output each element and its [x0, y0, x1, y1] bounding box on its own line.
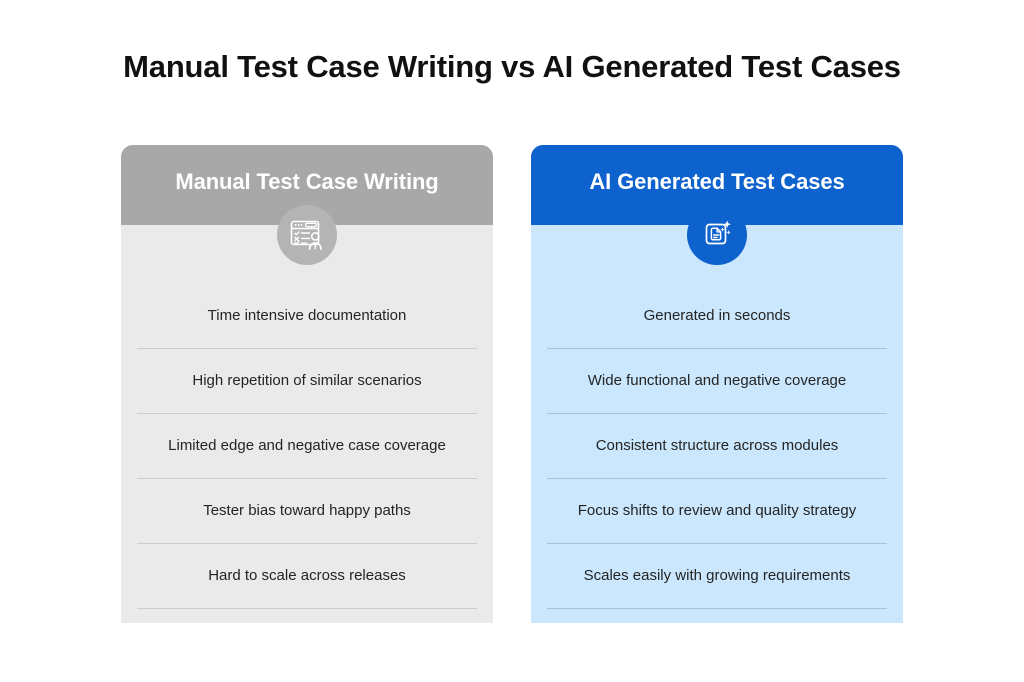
list-item: Scales easily with growing requirements: [547, 544, 887, 608]
feature-list-ai: Generated in seconds Wide functional and…: [547, 284, 887, 609]
card-header-title-manual: Manual Test Case Writing: [175, 169, 438, 195]
list-item-label: Time intensive documentation: [204, 306, 411, 326]
list-item-label: Scales easily with growing requirements: [580, 566, 855, 586]
list-item: Time intensive documentation: [137, 284, 477, 348]
feature-list-manual: Time intensive documentation High repeti…: [137, 284, 477, 609]
list-item: High repetition of similar scenarios: [137, 349, 477, 413]
list-item: Consistent structure across modules: [547, 414, 887, 478]
list-divider: [547, 608, 887, 609]
manual-checklist-person-icon: [277, 205, 337, 265]
list-item-label: Wide functional and negative coverage: [584, 371, 851, 391]
list-item: Wide functional and negative coverage: [547, 349, 887, 413]
ai-document-sparkle-icon: [687, 205, 747, 265]
list-item-label: Hard to scale across releases: [204, 566, 410, 586]
list-divider: [137, 608, 477, 609]
comparison-card-ai: AI Generated Test Cases Generated in sec…: [531, 145, 903, 623]
list-item-label: Consistent structure across modules: [592, 436, 843, 456]
list-item: Limited edge and negative case coverage: [137, 414, 477, 478]
list-item: Generated in seconds: [547, 284, 887, 348]
list-item-label: Tester bias toward happy paths: [199, 501, 415, 521]
list-item-label: Limited edge and negative case coverage: [164, 436, 450, 456]
list-item-label: Focus shifts to review and quality strat…: [574, 501, 860, 521]
list-item: Focus shifts to review and quality strat…: [547, 479, 887, 543]
list-item-label: High repetition of similar scenarios: [188, 371, 425, 391]
comparison-card-manual: Manual Test Case Writing Time in: [121, 145, 493, 623]
list-item: Hard to scale across releases: [137, 544, 477, 608]
list-item-label: Generated in seconds: [640, 306, 795, 326]
page-title: Manual Test Case Writing vs AI Generated…: [0, 47, 1024, 87]
comparison-infographic: Manual Test Case Writing vs AI Generated…: [0, 0, 1024, 682]
card-header-title-ai: AI Generated Test Cases: [589, 169, 844, 195]
list-item: Tester bias toward happy paths: [137, 479, 477, 543]
